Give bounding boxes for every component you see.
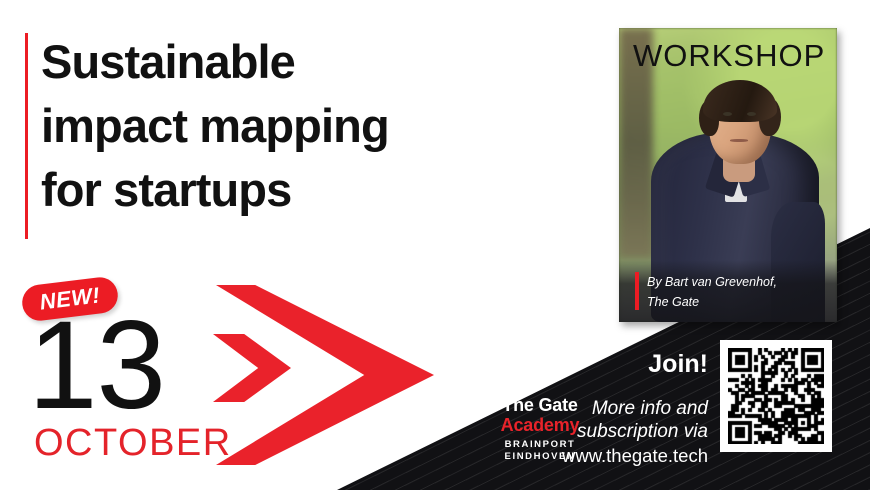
photo-card-title: WORKSHOP <box>633 40 825 71</box>
website-url[interactable]: www.thegate.tech <box>560 444 708 467</box>
event-month: OCTOBER <box>34 424 232 462</box>
photo-caption-line-2: The Gate <box>647 293 777 312</box>
headline-line-2: impact mapping <box>41 94 521 158</box>
page-title: Sustainable impact mapping for startups <box>41 30 521 222</box>
speaker-eye-right <box>747 112 756 116</box>
chevron-right-icon-large <box>216 285 434 465</box>
join-title: Join! <box>560 352 708 377</box>
qr-code-canvas <box>728 348 824 444</box>
headline-line-1: Sustainable <box>41 30 521 94</box>
join-line-2: subscription via <box>560 420 708 443</box>
headline-line-3: for startups <box>41 158 521 222</box>
speaker-mouth <box>730 139 748 142</box>
join-block: Join! More info and subscription via www… <box>560 352 708 467</box>
photo-caption: By Bart van Grevenhof, The Gate <box>647 273 777 312</box>
photo-caption-line-1: By Bart van Grevenhof, <box>647 273 777 292</box>
promo-banner: Sustainable impact mapping for startups … <box>0 0 870 490</box>
qr-code-icon[interactable] <box>720 340 832 452</box>
join-line-1: More info and <box>560 397 708 420</box>
chevron-right-icon-small <box>213 334 291 402</box>
speaker-eye-left <box>723 112 732 116</box>
event-day: 13 <box>28 303 165 428</box>
headline-accent-rule <box>25 33 28 239</box>
photo-caption-accent-bar <box>635 272 639 310</box>
speaker-photo-card: WORKSHOP By Bart van Grevenhof, The Gate <box>619 28 837 322</box>
